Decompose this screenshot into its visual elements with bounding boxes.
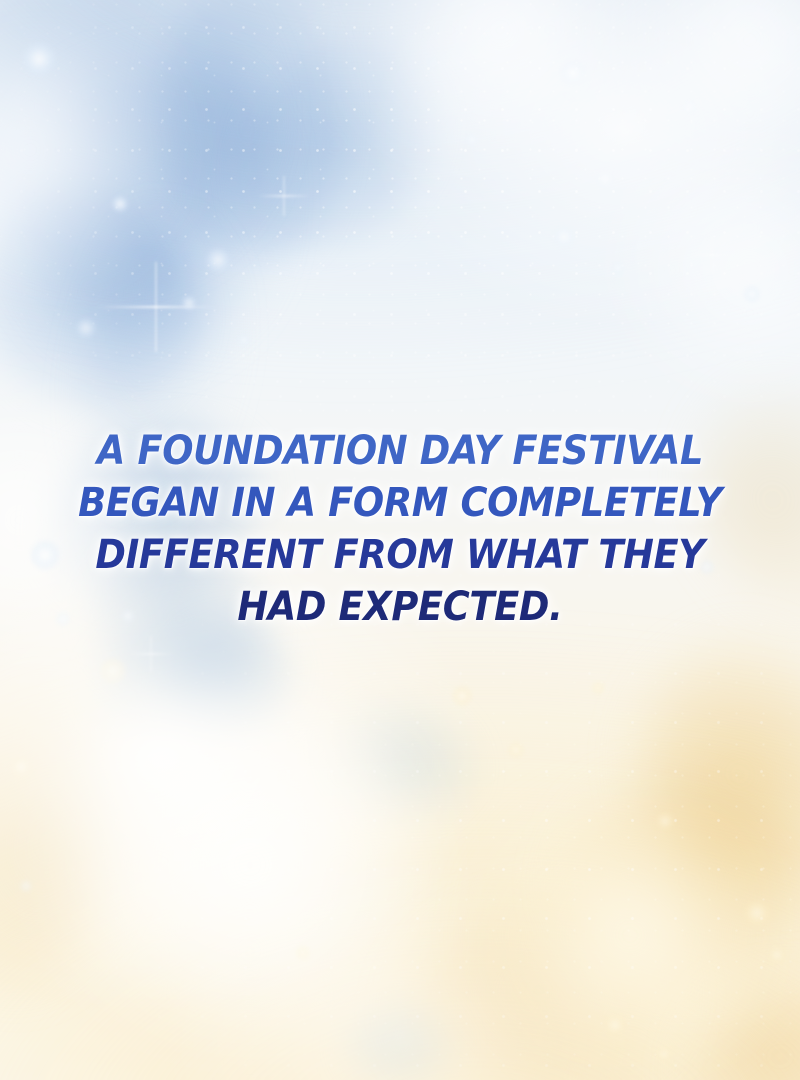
narration-panel: A FOUNDATION DAY FESTIVAL BEGAN IN A FOR… xyxy=(0,0,800,1080)
bokeh-dot-8 xyxy=(596,170,614,188)
bokeh-dot-9 xyxy=(682,100,696,114)
bokeh-dot-6 xyxy=(76,318,96,338)
bokeh-dot-10 xyxy=(612,262,624,274)
bokeh-dot-30 xyxy=(20,880,32,892)
bokeh-dot-27 xyxy=(656,1046,672,1062)
bokeh-dot-4 xyxy=(182,296,196,310)
bokeh-dot-21 xyxy=(508,742,524,758)
bokeh-dot-22 xyxy=(592,682,604,694)
bokeh-dot-2 xyxy=(112,196,128,212)
bokeh-dot-16 xyxy=(56,612,70,626)
bokeh-dot-28 xyxy=(296,946,310,960)
bokeh-dot-19 xyxy=(10,756,32,778)
bokeh-dot-13 xyxy=(466,134,478,146)
bokeh-dot-23 xyxy=(656,812,674,830)
bokeh-dot-20 xyxy=(452,686,472,706)
bokeh-dot-25 xyxy=(768,946,786,964)
bokeh-dot-18 xyxy=(100,658,126,684)
glitter-texture-lower xyxy=(0,540,800,1080)
bokeh-dot-5 xyxy=(238,334,250,346)
bokeh-dot-3 xyxy=(206,248,230,272)
bokeh-dot-11 xyxy=(553,226,575,248)
bokeh-dot-29 xyxy=(700,560,714,574)
bokeh-dot-26 xyxy=(604,1014,626,1036)
bokeh-dot-17 xyxy=(122,610,134,622)
bokeh-dot-12 xyxy=(744,286,760,302)
bokeh-dot-15 xyxy=(30,540,60,570)
bokeh-dot-1 xyxy=(22,42,56,76)
bokeh-dot-14 xyxy=(428,58,438,68)
bokeh-dot-24 xyxy=(744,900,770,926)
bokeh-dot-7 xyxy=(560,60,586,86)
